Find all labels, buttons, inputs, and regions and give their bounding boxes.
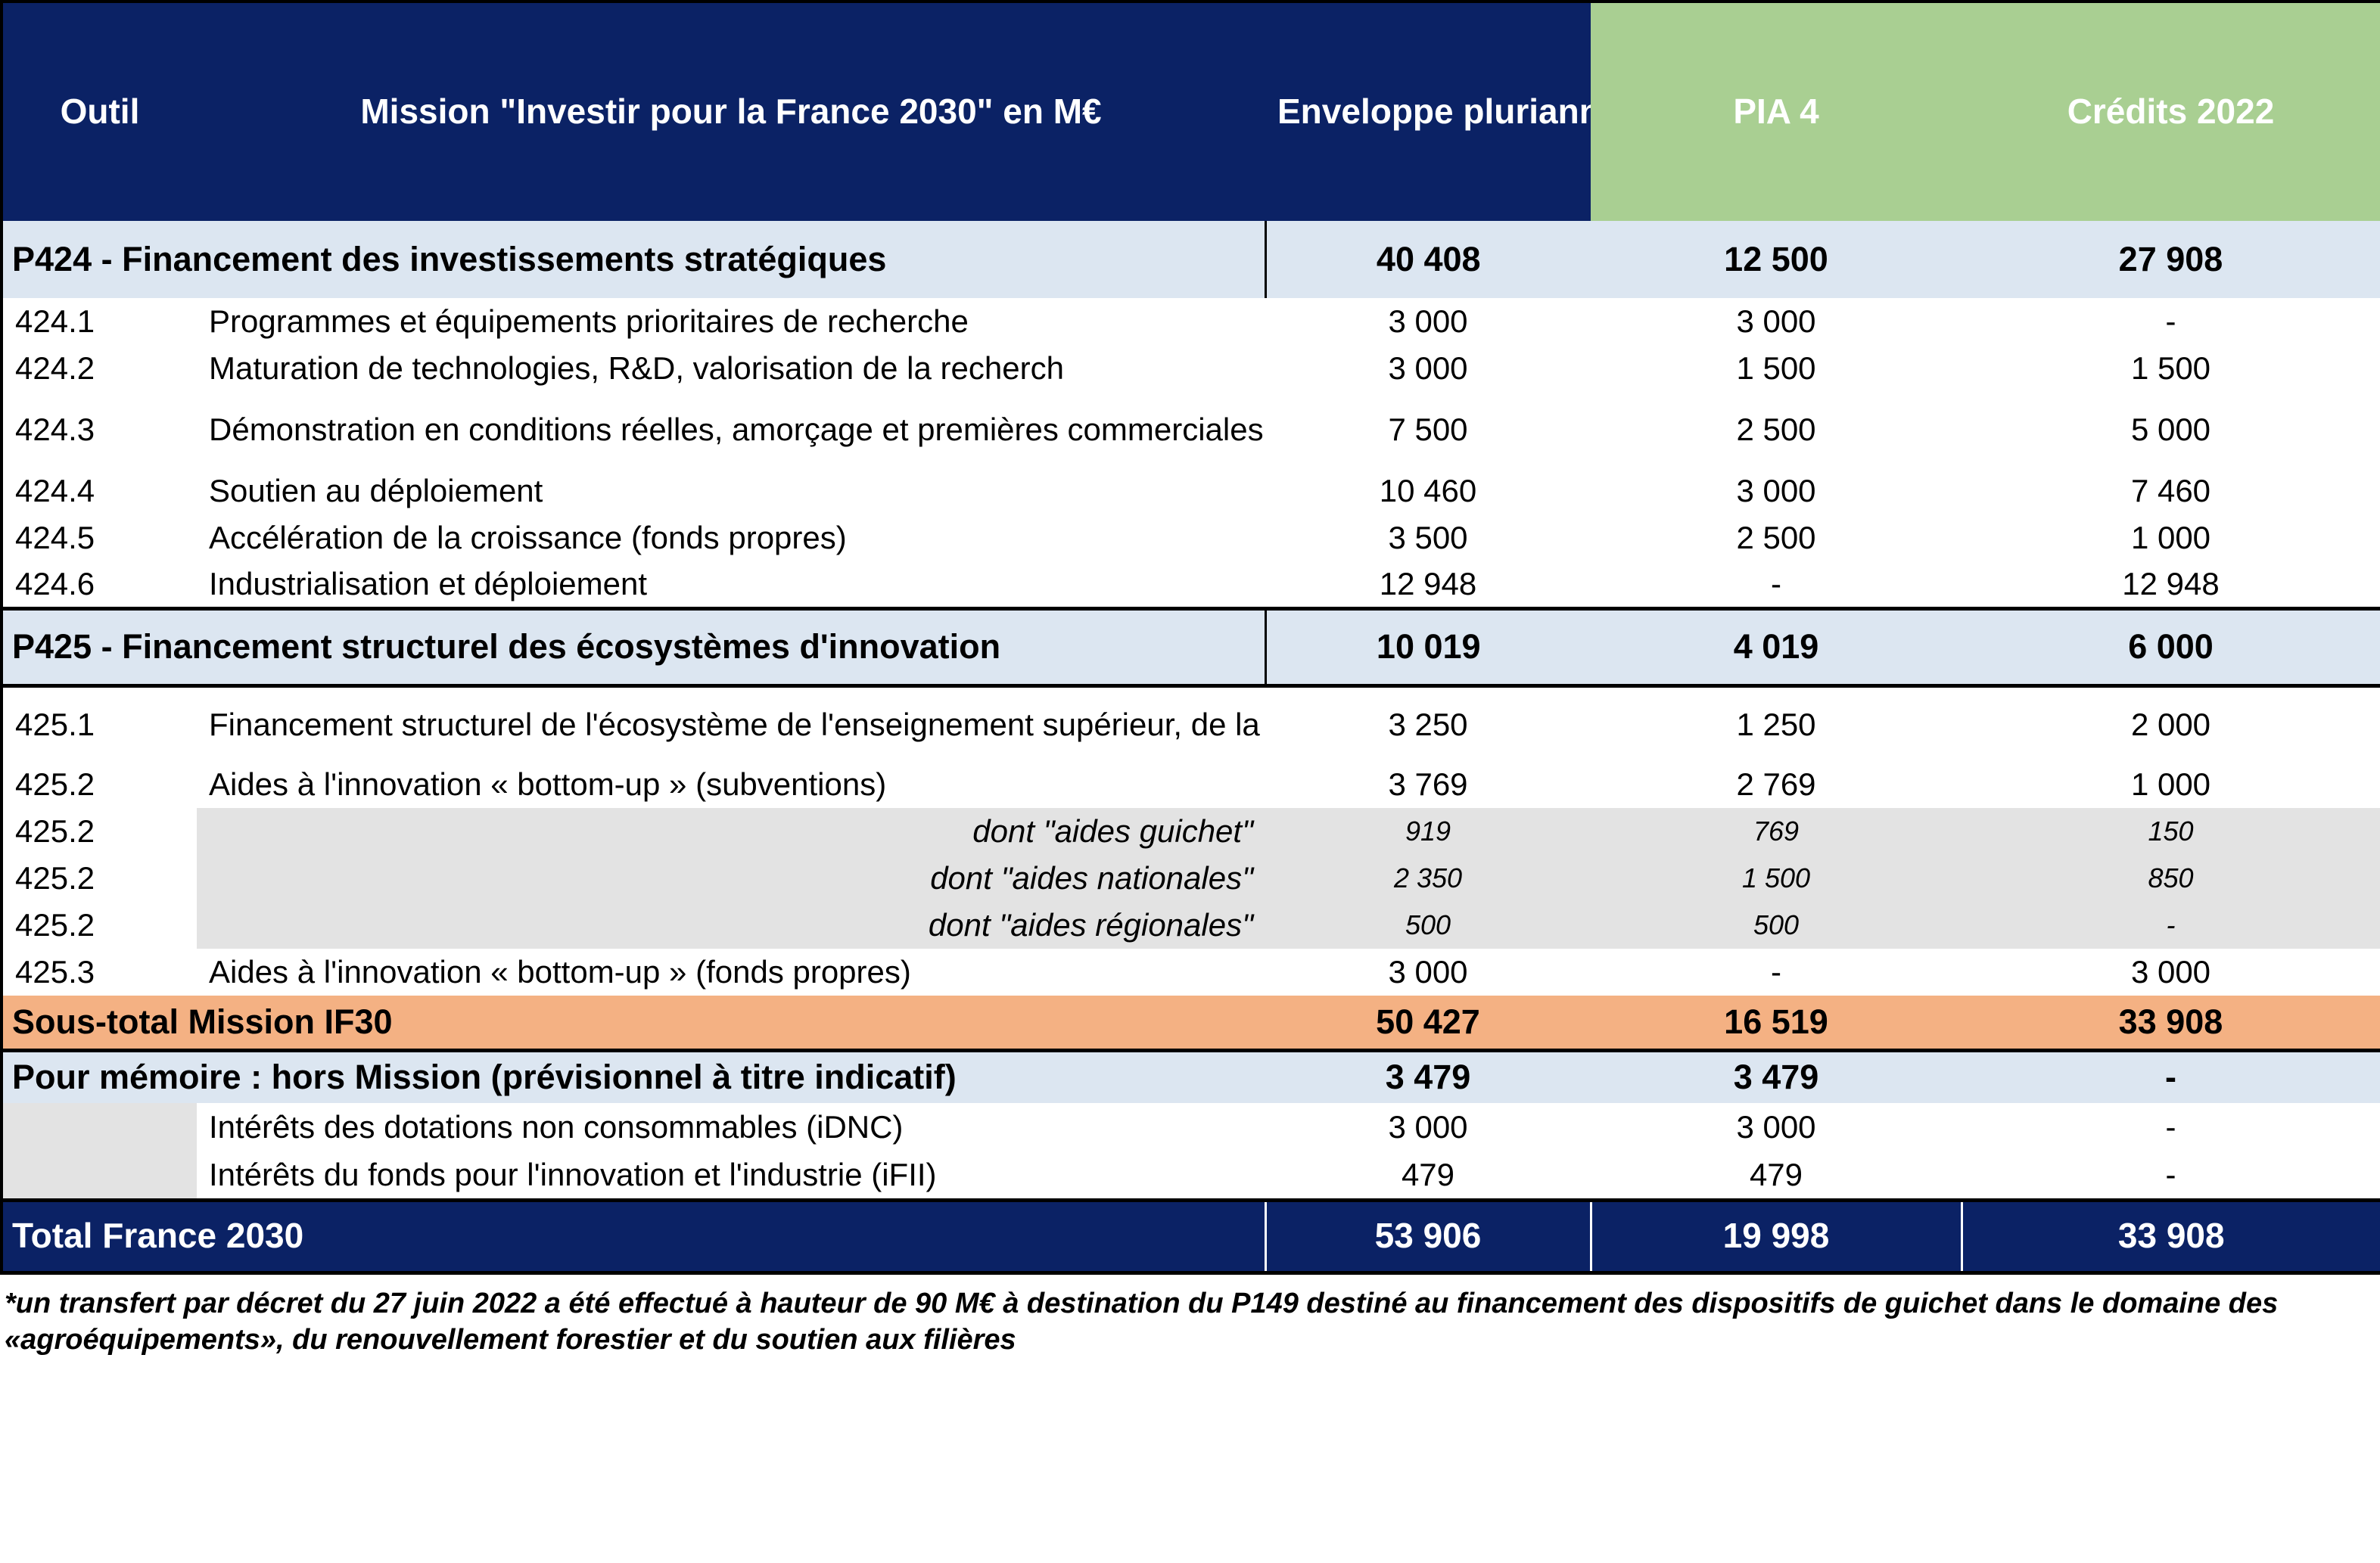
table-row: 424.6 Industrialisation et déploiement 1…	[2, 561, 2380, 608]
grand-total-row: Total France 2030 53 906 19 998 33 908	[2, 1200, 2380, 1272]
section-p424-enveloppe: 40 408	[1265, 221, 1591, 298]
row-pia4: 2 500	[1591, 392, 1962, 468]
table-row: Intérêts du fonds pour l'innovation et l…	[2, 1151, 2380, 1200]
row-label: Financement structurel de l'écosystème d…	[197, 685, 1265, 761]
table-row: 424.4 Soutien au déploiement 10 460 3 00…	[2, 468, 2380, 514]
table-row: 425.1 Financement structurel de l'écosys…	[2, 685, 2380, 761]
section-header-row-p424: P424 - Financement des investissements s…	[2, 221, 2380, 298]
row-outil	[2, 1103, 197, 1151]
row-pia4: 3 000	[1591, 298, 1962, 345]
column-header-enveloppe: Enveloppe pluriannuelle totale France 20…	[1265, 2, 1591, 221]
row-credits: 5 000	[1962, 392, 2380, 468]
row-label: Aides à l'innovation « bottom-up » (subv…	[197, 761, 1265, 808]
column-header-pia4: PIA 4	[1591, 2, 1962, 221]
section-title-p425: P425 - Financement structurel des écosys…	[2, 608, 1265, 685]
row-credits: 1 500	[1962, 345, 2380, 392]
table-row: 424.5 Accélération de la croissance (fon…	[2, 514, 2380, 561]
row-credits: 1 000	[1962, 514, 2380, 561]
row-label: Accélération de la croissance (fonds pro…	[197, 514, 1265, 561]
table-row: Intérêts des dotations non consommables …	[2, 1103, 2380, 1151]
row-enveloppe: 479	[1265, 1151, 1591, 1200]
row-label: dont "aides nationales"	[197, 855, 1265, 902]
row-enveloppe: 3 769	[1265, 761, 1591, 808]
row-credits: 7 460	[1962, 468, 2380, 514]
row-label: Industrialisation et déploiement	[197, 561, 1265, 608]
row-enveloppe: 12 948	[1265, 561, 1591, 608]
section-header-row-p425: P425 - Financement structurel des écosys…	[2, 608, 2380, 685]
row-enveloppe: 3 000	[1265, 949, 1591, 996]
table-row-dont: 425.2 dont "aides guichet" 919 769 150	[2, 808, 2380, 855]
row-label: Soutien au déploiement	[197, 468, 1265, 514]
section-p425-enveloppe: 10 019	[1265, 608, 1591, 685]
table-row-dont: 425.2 dont "aides nationales" 2 350 1 50…	[2, 855, 2380, 902]
total-credits: 33 908	[1962, 1200, 2380, 1272]
section-p425-credits: 6 000	[1962, 608, 2380, 685]
row-outil: 425.1	[2, 685, 197, 761]
total-label: Total France 2030	[2, 1200, 1265, 1272]
row-outil: 425.3	[2, 949, 197, 996]
section-p424-credits: 27 908	[1962, 221, 2380, 298]
row-label: Démonstration en conditions réelles, amo…	[197, 392, 1265, 468]
row-pia4: 1 500	[1591, 345, 1962, 392]
memo-header-row: Pour mémoire : hors Mission (prévisionne…	[2, 1050, 2380, 1103]
row-outil: 424.4	[2, 468, 197, 514]
row-enveloppe: 3 000	[1265, 1103, 1591, 1151]
row-pia4: 1 250	[1591, 685, 1962, 761]
row-credits: -	[1962, 1151, 2380, 1200]
row-credits: -	[1962, 1103, 2380, 1151]
france-2030-budget-table: Outil Mission "Investir pour la France 2…	[0, 0, 2380, 1275]
row-label: Aides à l'innovation « bottom-up » (fond…	[197, 949, 1265, 996]
row-pia4: 769	[1591, 808, 1962, 855]
row-outil: 424.1	[2, 298, 197, 345]
memo-credits: -	[1962, 1050, 2380, 1103]
row-outil: 425.2	[2, 761, 197, 808]
column-header-credits-2022: Crédits 2022	[1962, 2, 2380, 221]
table-header: Outil Mission "Investir pour la France 2…	[2, 2, 2380, 221]
total-pia4: 19 998	[1591, 1200, 1962, 1272]
table-row-dont: 425.2 dont "aides régionales" 500 500 -	[2, 902, 2380, 949]
row-label: dont "aides régionales"	[197, 902, 1265, 949]
row-label: Intérêts des dotations non consommables …	[197, 1103, 1265, 1151]
subtotal-label: Sous-total Mission IF30	[2, 996, 1265, 1050]
row-enveloppe: 3 000	[1265, 345, 1591, 392]
subtotal-enveloppe: 50 427	[1265, 996, 1591, 1050]
table-row: 425.2 Aides à l'innovation « bottom-up »…	[2, 761, 2380, 808]
row-outil: 424.6	[2, 561, 197, 608]
footnote-text: *un transfert par décret du 27 juin 2022…	[0, 1285, 2355, 1359]
budget-table-sheet: Outil Mission "Investir pour la France 2…	[0, 0, 2380, 1563]
row-label: Intérêts du fonds pour l'innovation et l…	[197, 1151, 1265, 1200]
column-header-mission: Mission "Investir pour la France 2030" e…	[197, 2, 1265, 221]
row-enveloppe: 3 500	[1265, 514, 1591, 561]
row-credits: 3 000	[1962, 949, 2380, 996]
memo-enveloppe: 3 479	[1265, 1050, 1591, 1103]
row-pia4: 3 000	[1591, 468, 1962, 514]
memo-label: Pour mémoire : hors Mission (prévisionne…	[2, 1050, 1265, 1103]
row-enveloppe: 2 350	[1265, 855, 1591, 902]
row-enveloppe: 3 250	[1265, 685, 1591, 761]
row-enveloppe: 10 460	[1265, 468, 1591, 514]
row-enveloppe: 3 000	[1265, 298, 1591, 345]
header-row: Outil Mission "Investir pour la France 2…	[2, 2, 2380, 221]
total-enveloppe: 53 906	[1265, 1200, 1591, 1272]
row-pia4: -	[1591, 561, 1962, 608]
table-body: P424 - Financement des investissements s…	[2, 221, 2380, 1272]
row-outil: 425.2	[2, 808, 197, 855]
row-credits: -	[1962, 902, 2380, 949]
row-outil: 424.3	[2, 392, 197, 468]
subtotal-row: Sous-total Mission IF30 50 427 16 519 33…	[2, 996, 2380, 1050]
row-credits: 850	[1962, 855, 2380, 902]
row-credits: 1 000	[1962, 761, 2380, 808]
table-row: 424.3 Démonstration en conditions réelle…	[2, 392, 2380, 468]
row-credits: -	[1962, 298, 2380, 345]
row-pia4: 2 500	[1591, 514, 1962, 561]
column-header-outil: Outil	[2, 2, 197, 221]
row-pia4: 479	[1591, 1151, 1962, 1200]
row-credits: 150	[1962, 808, 2380, 855]
row-pia4: 500	[1591, 902, 1962, 949]
table-row: 424.2 Maturation de technologies, R&D, v…	[2, 345, 2380, 392]
memo-pia4: 3 479	[1591, 1050, 1962, 1103]
row-outil	[2, 1151, 197, 1200]
row-outil: 424.5	[2, 514, 197, 561]
table-row: 425.3 Aides à l'innovation « bottom-up »…	[2, 949, 2380, 996]
row-label: Maturation de technologies, R&D, valoris…	[197, 345, 1265, 392]
row-label: Programmes et équipements prioritaires d…	[197, 298, 1265, 345]
row-enveloppe: 7 500	[1265, 392, 1591, 468]
row-credits: 2 000	[1962, 685, 2380, 761]
row-outil: 425.2	[2, 855, 197, 902]
row-enveloppe: 500	[1265, 902, 1591, 949]
row-outil: 424.2	[2, 345, 197, 392]
row-pia4: -	[1591, 949, 1962, 996]
row-outil: 425.2	[2, 902, 197, 949]
section-title-p424: P424 - Financement des investissements s…	[2, 221, 1265, 298]
section-p424-pia4: 12 500	[1591, 221, 1962, 298]
table-row: 424.1 Programmes et équipements priorita…	[2, 298, 2380, 345]
row-credits: 12 948	[1962, 561, 2380, 608]
row-pia4: 2 769	[1591, 761, 1962, 808]
section-p425-pia4: 4 019	[1591, 608, 1962, 685]
row-pia4: 1 500	[1591, 855, 1962, 902]
row-enveloppe: 919	[1265, 808, 1591, 855]
subtotal-pia4: 16 519	[1591, 996, 1962, 1050]
row-pia4: 3 000	[1591, 1103, 1962, 1151]
subtotal-credits: 33 908	[1962, 996, 2380, 1050]
row-label: dont "aides guichet"	[197, 808, 1265, 855]
